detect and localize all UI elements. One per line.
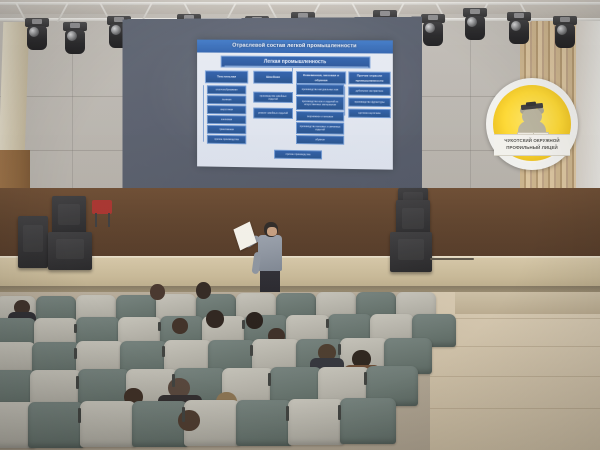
slide-node: хлопчатобумажная [207, 85, 246, 94]
seat[interactable] [28, 402, 84, 448]
subwoofer-cabinet [390, 232, 432, 272]
slide-node: шерстяная [207, 105, 246, 114]
school-emblem: ЧУКОТСКИЙ ОКРУЖНОЙ ПРОФИЛЬНЫЙ ЛИЦЕЙ [486, 78, 578, 170]
slide-column-header: Швейная [253, 71, 293, 84]
slide-node: прочие производства [207, 135, 246, 144]
wall-seam [470, 20, 471, 200]
emblem-text-line1: ЧУКОТСКИЙ ОКРУЖНОЙ [494, 138, 570, 143]
emblem-text-line2: ПРОФИЛЬНЫЙ ЛИЦЕЙ [494, 145, 570, 150]
slide-node: производство меховых и овчинных изделий [296, 122, 344, 135]
stage-light-icon [552, 16, 578, 50]
stage-light-icon [420, 14, 446, 48]
slide-node: щетинно-щеточное [348, 109, 391, 119]
slide-node: производство натуральных кож [296, 84, 344, 95]
red-chair [92, 200, 112, 214]
speaker-cabinet [18, 216, 48, 268]
slide-column-header: Кожевенная, меховая и обувная [296, 71, 346, 84]
slide-node: производство кож и изделий из искусствен… [296, 96, 344, 111]
slide-node: производство швейных изделий [253, 92, 293, 103]
stage-light-icon [62, 22, 88, 56]
seat[interactable] [236, 400, 292, 446]
slide-node: ремонт швейных изделий [253, 108, 293, 119]
subwoofer-cabinet [48, 232, 92, 270]
slide-node: производство фурнитуры [348, 98, 391, 108]
seat[interactable] [288, 399, 344, 445]
slide-node: льняная [207, 95, 246, 104]
slide-node: обувное [296, 135, 344, 145]
aisle-step [455, 292, 600, 314]
auditorium-scene: Отраслевой состав легкой промышленности … [0, 0, 600, 450]
slide-column-header: Текстильная [205, 70, 248, 83]
presentation-slide: Отраслевой состав легкой промышленности … [197, 40, 393, 170]
slide-node: прочие производства [274, 150, 322, 160]
slide-node: трикотажная [207, 125, 246, 134]
stage-light-icon [462, 8, 488, 42]
slide-node: дубильное экстрактное [348, 86, 391, 95]
seat[interactable] [340, 398, 396, 444]
slide-title: Отраслевой состав легкой промышленности [197, 40, 393, 54]
slide-column-header: Прочие отрасли промышленности [348, 71, 391, 84]
floor-cable [430, 258, 474, 260]
slide-node: шелковая [207, 115, 246, 124]
seat[interactable] [80, 401, 136, 447]
aisle-floor [430, 292, 600, 450]
stage-light-icon [506, 12, 532, 46]
slide-node: скорняжное и меховое [296, 111, 344, 122]
stage-light-icon [24, 18, 50, 52]
